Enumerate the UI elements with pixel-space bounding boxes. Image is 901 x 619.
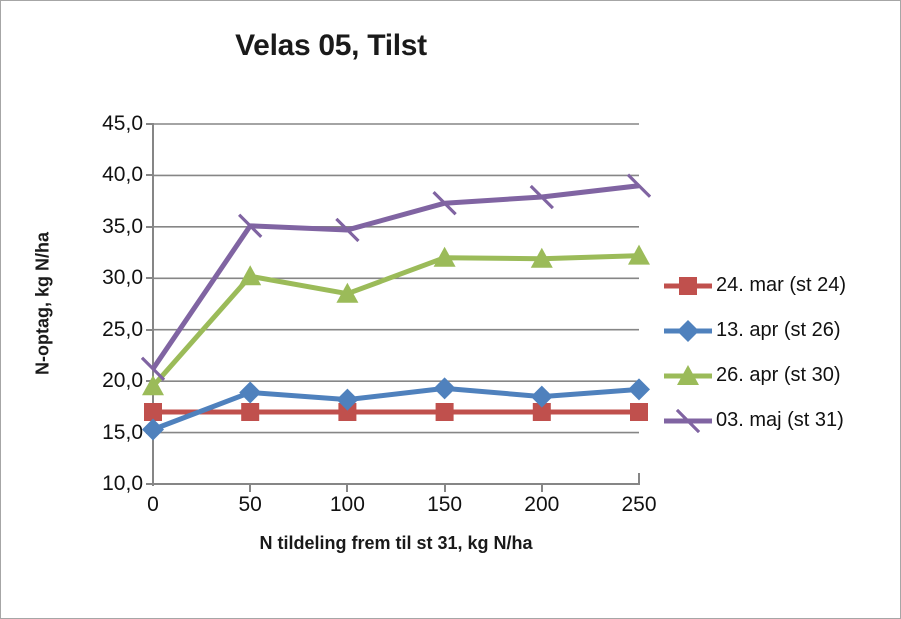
legend-marker-square-icon — [662, 274, 714, 298]
series-line — [153, 256, 639, 387]
data-point-square — [679, 277, 697, 295]
data-point-square — [241, 403, 259, 421]
plot-svg — [153, 124, 639, 484]
y-tick-label: 15,0 — [71, 421, 143, 445]
x-tick-mark — [346, 485, 348, 492]
legend-item[interactable]: 26. apr (st 30) — [662, 353, 887, 398]
y-axis-tick-labels: 10,015,020,025,030,035,040,045,0 — [61, 1, 143, 619]
data-point-diamond — [142, 418, 164, 440]
y-tick-label: 45,0 — [71, 112, 143, 136]
x-tick-label: 100 — [307, 493, 387, 517]
y-tick-label: 25,0 — [71, 318, 143, 342]
y-axis-title: N-optag, kg N/ha — [33, 174, 54, 434]
legend-marker-cross-icon — [662, 409, 714, 433]
x-tick-label: 200 — [502, 493, 582, 517]
x-axis-title: N tildeling frem til st 31, kg N/ha — [153, 533, 639, 554]
data-point-square — [436, 403, 454, 421]
x-tick-label: 150 — [405, 493, 485, 517]
data-point-square — [630, 403, 648, 421]
legend-marker-diamond-icon — [662, 319, 714, 343]
y-tick-label: 35,0 — [71, 215, 143, 239]
legend-marker-triangle-icon — [662, 364, 714, 388]
legend-label: 13. apr (st 26) — [714, 319, 841, 342]
legend-item[interactable]: 24. mar (st 24) — [662, 263, 887, 308]
y-tick-label: 20,0 — [71, 369, 143, 393]
x-tick-label: 250 — [599, 493, 679, 517]
y-tick-label: 40,0 — [71, 163, 143, 187]
data-point-diamond — [239, 381, 261, 403]
chart-container: Velas 05, Tilst N-optag, kg N/ha N tilde… — [0, 0, 901, 619]
y-tick-label: 30,0 — [71, 266, 143, 290]
legend-label: 03. maj (st 31) — [714, 409, 844, 432]
data-point-square — [144, 403, 162, 421]
x-tick-mark — [249, 485, 251, 492]
x-tick-mark — [541, 485, 543, 492]
legend-label: 26. apr (st 30) — [714, 364, 841, 387]
legend-item[interactable]: 03. maj (st 31) — [662, 398, 887, 443]
legend-item[interactable]: 13. apr (st 26) — [662, 308, 887, 353]
series-line — [153, 388, 639, 429]
data-point-diamond — [677, 320, 699, 342]
plot-area — [153, 124, 639, 484]
x-tick-label: 50 — [210, 493, 290, 517]
x-tick-mark — [444, 485, 446, 492]
chart-legend: 24. mar (st 24)13. apr (st 26)26. apr (s… — [662, 263, 887, 443]
x-tick-label: 0 — [113, 493, 193, 517]
legend-label: 24. mar (st 24) — [714, 274, 846, 297]
